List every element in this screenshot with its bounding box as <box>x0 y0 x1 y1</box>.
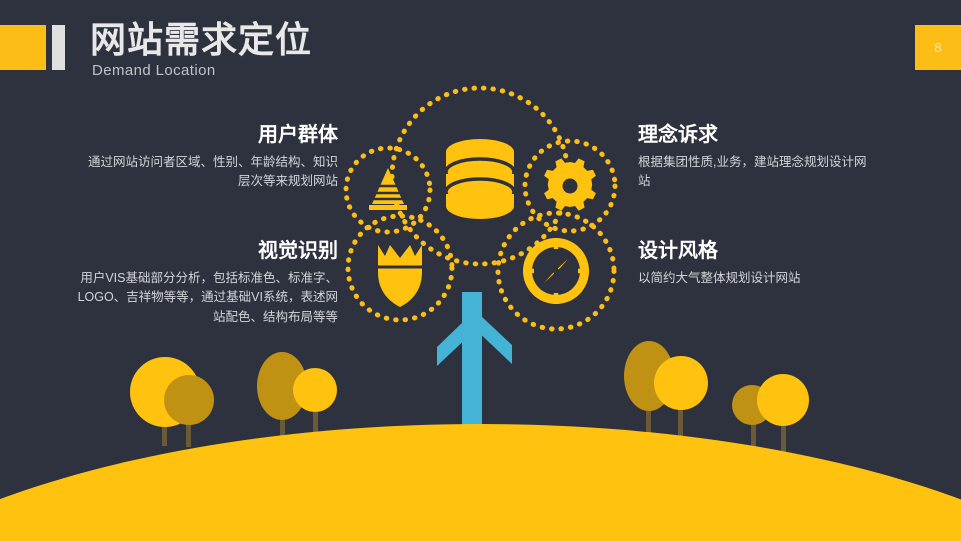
heading-user-group: 用户群体 <box>84 122 338 148</box>
page-subtitle: Demand Location <box>92 62 216 79</box>
tree-right-4 <box>757 374 809 458</box>
page-title: 网站需求定位 <box>90 20 312 60</box>
text-block-visual-identity: 视觉识别 用户VIS基础部分分析，包括标准色、标准字、LOGO、吉祥物等等，通过… <box>70 238 338 327</box>
title-accent-block <box>0 25 46 70</box>
tree-right-2 <box>654 356 708 446</box>
compass-icon <box>523 238 589 304</box>
hill <box>0 424 961 541</box>
tree-left-2 <box>164 375 214 447</box>
body-visual-identity: 用户VIS基础部分分析，包括标准色、标准字、LOGO、吉祥物等等，通过基础VI系… <box>70 269 338 327</box>
heading-design-style: 设计风格 <box>638 238 878 264</box>
shield-crown-icon <box>378 245 422 307</box>
page-number-badge: 8 <box>915 25 961 70</box>
gear-icon <box>544 158 596 210</box>
heading-concept-appeal: 理念诉求 <box>638 122 878 148</box>
text-block-design-style: 设计风格 以简约大气整体规划设计网站 <box>638 238 878 288</box>
page-number-text: 8 <box>934 40 941 55</box>
tree-trunk <box>437 292 512 440</box>
body-design-style: 以简约大气整体规划设计网站 <box>638 269 878 288</box>
text-block-user-group: 用户群体 通过网站访问者区域、性别、年龄结构、知识层次等来规划网站 <box>84 122 338 192</box>
traffic-cone-icon <box>369 168 407 210</box>
heading-visual-identity: 视觉识别 <box>70 238 338 264</box>
title-accent-bar <box>52 25 65 70</box>
slide-canvas: 网站需求定位 Demand Location 8 用户群体 通过网站访问者区域、… <box>0 0 961 541</box>
body-concept-appeal: 根据集团性质,业务，建站理念规划设计网站 <box>638 153 878 192</box>
text-block-concept-appeal: 理念诉求 根据集团性质,业务，建站理念规划设计网站 <box>638 122 878 192</box>
database-icon <box>446 139 514 219</box>
body-user-group: 通过网站访问者区域、性别、年龄结构、知识层次等来规划网站 <box>84 153 338 192</box>
